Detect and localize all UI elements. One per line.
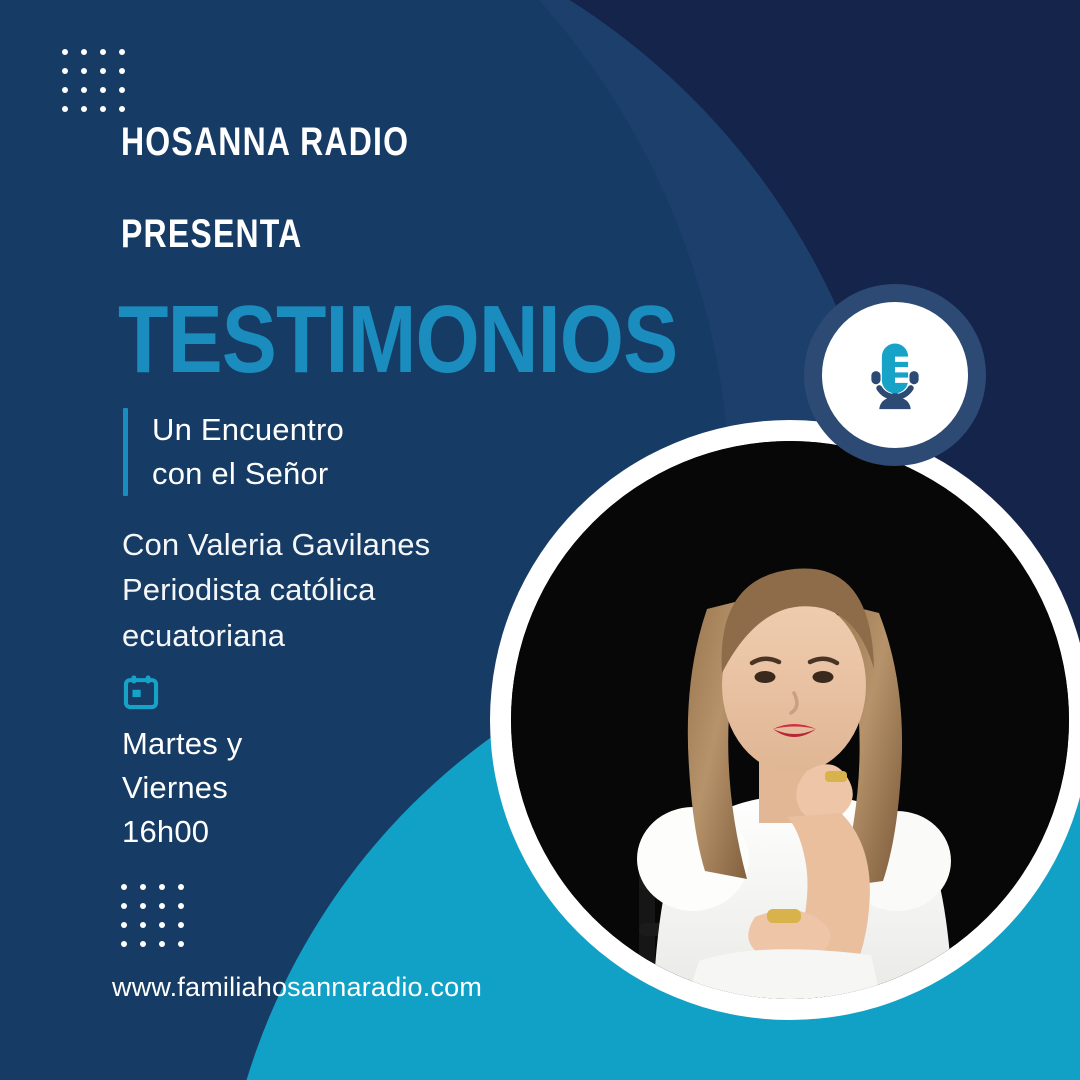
calendar-icon <box>122 673 160 711</box>
microphone-badge-inner <box>822 302 968 448</box>
subtitle-accent-bar <box>123 408 128 496</box>
grid-dot <box>81 87 87 93</box>
grid-dot <box>62 87 68 93</box>
portrait-photo <box>511 441 1069 999</box>
grid-dot <box>100 87 106 93</box>
grid-dot <box>81 49 87 55</box>
grid-dot <box>140 941 146 947</box>
grid-dot <box>178 941 184 947</box>
schedule-text: Martes y Viernes 16h00 <box>122 722 242 854</box>
portrait-illustration <box>511 441 1069 999</box>
website-url[interactable]: www.familiahosannaradio.com <box>112 972 482 1003</box>
dot-grid-decoration-top <box>62 49 125 112</box>
grid-dot <box>119 49 125 55</box>
grid-dot <box>100 106 106 112</box>
poster-canvas: HOSANNA RADIO PRESENTA TESTIMONIOS Un En… <box>0 0 1080 1080</box>
subtitle-text: Un Encuentro con el Señor <box>152 408 344 496</box>
presenta-label: PRESENTA <box>121 214 302 254</box>
subtitle-block: Un Encuentro con el Señor <box>123 408 344 496</box>
grid-dot <box>121 903 127 909</box>
grid-dot <box>119 87 125 93</box>
grid-dot <box>140 922 146 928</box>
brand-title: HOSANNA RADIO <box>121 122 409 162</box>
grid-dot <box>62 106 68 112</box>
grid-dot <box>81 68 87 74</box>
host-credits: Con Valeria Gavilanes Periodista católic… <box>122 522 430 658</box>
grid-dot <box>119 106 125 112</box>
grid-dot <box>121 884 127 890</box>
page-title: TESTIMONIOS <box>118 292 677 388</box>
dot-grid-decoration-bottom <box>121 884 184 947</box>
grid-dot <box>178 884 184 890</box>
grid-dot <box>178 922 184 928</box>
grid-dot <box>100 68 106 74</box>
grid-dot <box>121 922 127 928</box>
microphone-icon <box>853 333 937 417</box>
grid-dot <box>62 68 68 74</box>
grid-dot <box>119 68 125 74</box>
grid-dot <box>81 106 87 112</box>
grid-dot <box>159 922 165 928</box>
grid-dot <box>121 941 127 947</box>
grid-dot <box>100 49 106 55</box>
microphone-badge <box>804 284 986 466</box>
grid-dot <box>159 903 165 909</box>
grid-dot <box>178 903 184 909</box>
grid-dot <box>159 884 165 890</box>
grid-dot <box>140 884 146 890</box>
grid-dot <box>140 903 146 909</box>
grid-dot <box>159 941 165 947</box>
grid-dot <box>62 49 68 55</box>
